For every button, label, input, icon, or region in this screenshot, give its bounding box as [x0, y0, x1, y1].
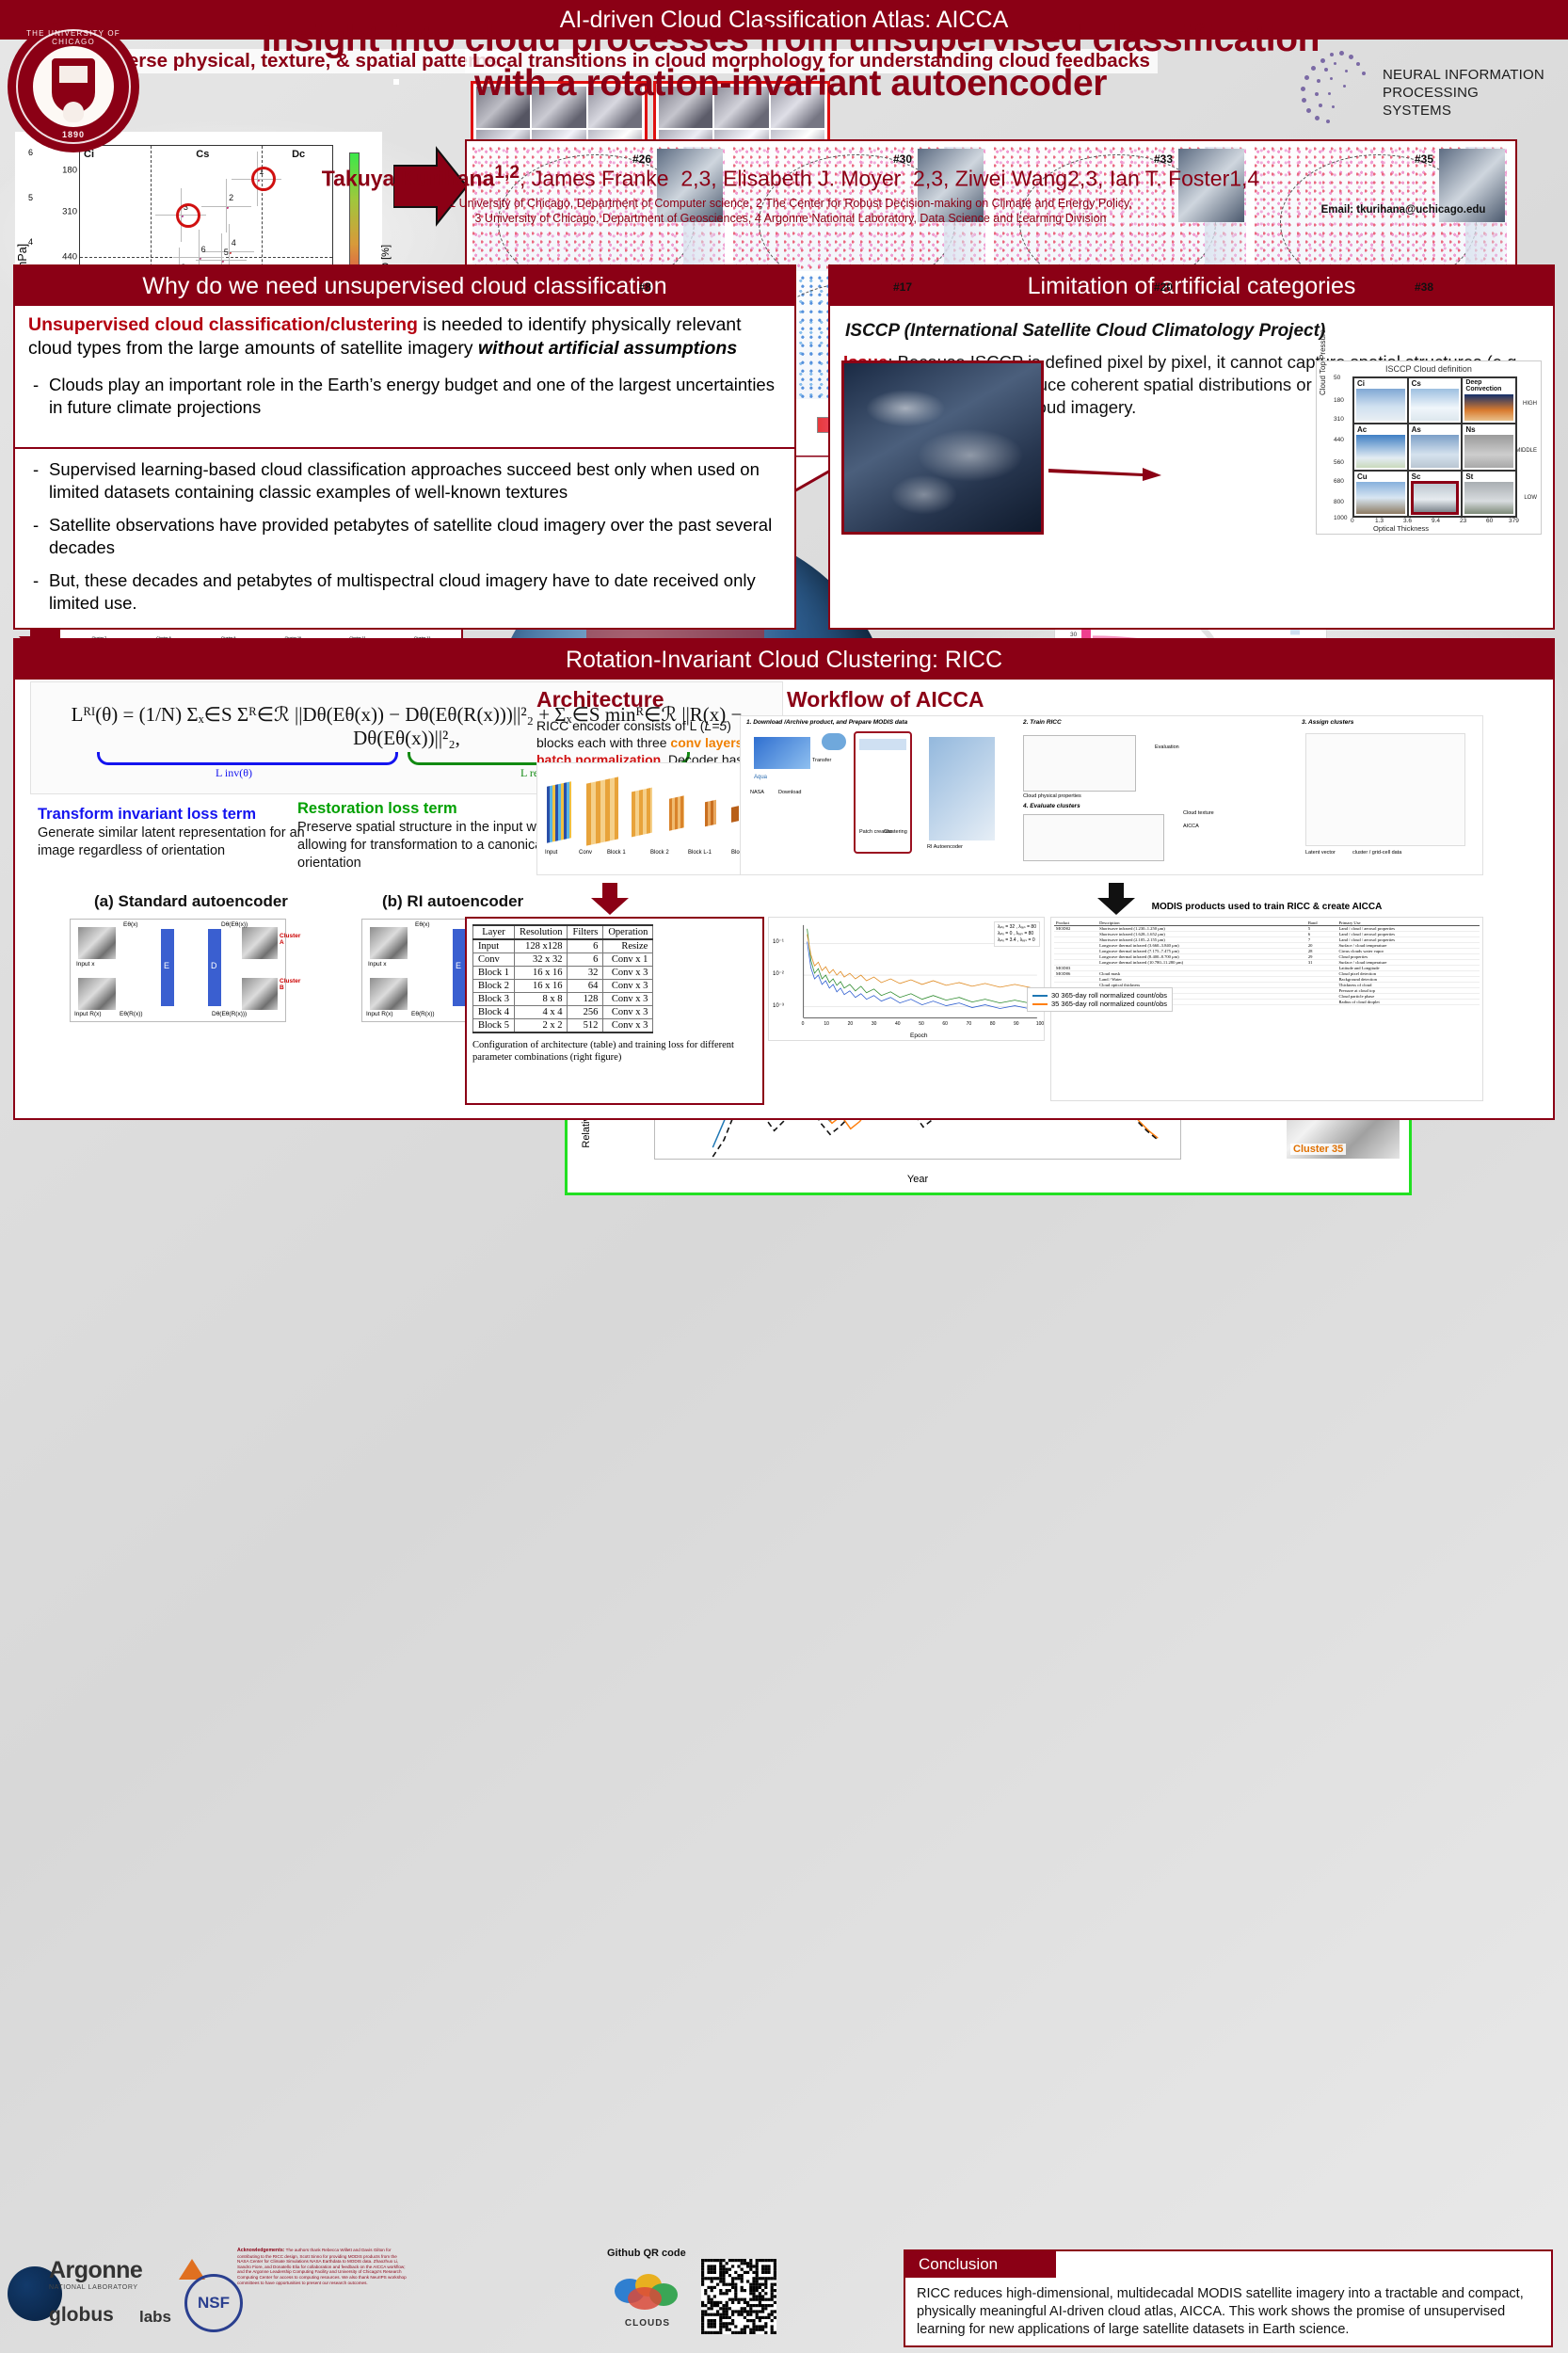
- arch-label-conv: Conv: [579, 850, 592, 856]
- loss-legend-0: λᵢₙᵥ = 32 , λᵣₑₛ = 80: [998, 924, 1036, 931]
- ocean-legend-label-0: 30 365-day roll normalized count/obs: [1051, 991, 1167, 1000]
- loss-legend-2: λᵢₙᵥ = 3.4 , λᵣₑₛ = 0: [998, 937, 1036, 944]
- author-lead: Takuya Kurihana: [322, 167, 495, 191]
- arch-cell-3-0: Block 2: [473, 980, 515, 993]
- affiliations: 1 University of Chicago, Department of C…: [169, 196, 1412, 226]
- isccp-ytick-7: 1000: [1334, 515, 1347, 521]
- arch-cell-2-3: Conv x 3: [603, 967, 653, 980]
- workflow-step-4: 3. Assign clusters: [1302, 719, 1353, 726]
- title-line-1: Insight into cloud processes from unsupe…: [141, 17, 1440, 61]
- brace-inv: [97, 752, 398, 765]
- loss-xtick-6: 60: [942, 1021, 948, 1027]
- workflow-riae-label: Cloud physical properties: [1023, 793, 1081, 799]
- seal-year: 1890: [8, 130, 139, 139]
- arch-cell-3-2: 64: [568, 980, 603, 993]
- workflow-step-3: 4. Evaluate clusters: [1023, 803, 1080, 809]
- seal-arc-text: THE UNIVERSITY OF CHICAGO: [8, 29, 139, 46]
- arch-text-1: RICC encoder consists of L (: [536, 718, 704, 733]
- isccp-cell-label-st: St: [1465, 472, 1473, 481]
- why-bullets-top: Clouds play an important role in the Ear…: [28, 374, 781, 419]
- workflow-title: Workflow of AICCA: [787, 687, 984, 712]
- isccp-xtick-1: 1.3: [1375, 518, 1384, 524]
- cluster-a-label: Cluster A: [280, 933, 300, 946]
- affiliation-line-2: 3 University of Chicago, Department of G…: [169, 211, 1412, 226]
- arch-th-3: Operation: [603, 925, 653, 939]
- loss-ytick-1: 10⁻²: [773, 970, 784, 977]
- brace-label-inv: L inv(θ): [216, 766, 252, 780]
- arch-cell-1-0: Conv: [473, 953, 515, 967]
- isccp-cell-cs: Cs: [1408, 377, 1463, 424]
- loss-ytick-0: 10⁻¹: [773, 938, 784, 945]
- workflow-diagram: 1. Download /Archive product, and Prepar…: [740, 715, 1483, 875]
- standard-autoencoder-diagram: E D Input x Input R(x) Eθ(x) Dθ(Eθ(x)) E…: [70, 919, 286, 1022]
- loss-xtick-3: 30: [872, 1021, 877, 1027]
- arch-th-1: Resolution: [514, 925, 568, 939]
- table-row: Conv32 x 326Conv x 1: [473, 953, 653, 967]
- isccp-xtick-3: 9.4: [1432, 518, 1440, 524]
- arch-cell-5-2: 256: [568, 1006, 603, 1019]
- transition-tile-label: #35: [1415, 152, 1433, 166]
- workflow-funcx-label: Aqua: [754, 775, 767, 780]
- arch-cell-0-3: Resize: [603, 939, 653, 953]
- transition-tile-label: #8: [639, 280, 651, 294]
- loss-xtick-4: 40: [895, 1021, 901, 1027]
- isccp-cell-cu: Cu: [1353, 471, 1408, 517]
- isccp-ytick-2: 310: [1334, 416, 1344, 423]
- isccp-side-middle: MIDDLE: [1515, 448, 1537, 454]
- loss-xtick-2: 20: [848, 1021, 854, 1027]
- architecture-table-card: Layer Resolution Filters Operation Input…: [465, 917, 764, 1105]
- isccp-xtick-6: 379: [1509, 518, 1519, 524]
- ack-title: Acknowledgements:: [237, 2248, 284, 2253]
- input-rx-label-b: Input R(x): [366, 1011, 393, 1017]
- isccp-cell-ns: Ns: [1462, 424, 1516, 470]
- isccp-sc-highlight: [1411, 481, 1460, 515]
- isccp-cell-ci: Ci: [1353, 377, 1408, 424]
- arch-label-block2: Block 2: [650, 850, 669, 856]
- loss-legend: λᵢₙᵥ = 32 , λᵣₑₛ = 80 λᵢₙᵥ = 0 , λᵣₑₛ = …: [994, 921, 1040, 947]
- arch-L-value: L=5: [704, 718, 727, 733]
- architecture-table-caption: Configuration of architecture (table) an…: [472, 1039, 757, 1064]
- workflow-patch-label: RI Autoencoder: [927, 844, 963, 850]
- ocean-legend-item-1: 35 365-day roll normalized count/obs: [1032, 1000, 1167, 1008]
- isccp-ytick-0: 50: [1334, 375, 1340, 381]
- scatter-point-label-5: 5: [224, 248, 229, 257]
- author-rest: , James Franke 2,3, Elisabeth J. Moyer 2…: [520, 167, 1259, 191]
- ricc-panel-title: Rotation-Invariant Cloud Clustering: RIC…: [15, 640, 1553, 680]
- transition-tile-label: #38: [1415, 280, 1433, 294]
- erx-label-b: Eθ(R(x)): [411, 1011, 435, 1017]
- isccp-cell-label-sc: Sc: [1412, 472, 1421, 481]
- isccp-xtick-2: 3.6: [1403, 518, 1412, 524]
- architecture-diagram: Input Conv Block 1 Block 2 Block L-1 Blo…: [536, 762, 772, 875]
- arch-cell-0-1: 128 x128: [514, 939, 568, 953]
- isccp-panel-title: Limitation of artificial categories: [830, 266, 1553, 306]
- isccp-panel: Limitation of artificial categories ISCC…: [828, 264, 1555, 630]
- down-arrow-icon-left: [589, 883, 631, 915]
- architecture-title: Architecture: [536, 687, 706, 712]
- loss-xtick-8: 80: [990, 1021, 996, 1027]
- modis-sample-image: [841, 360, 1044, 535]
- arch-cell-1-3: Conv x 1: [603, 953, 653, 967]
- loss-xticks: 0102030405060708090100: [803, 1021, 1040, 1029]
- loss-xtick-7: 70: [967, 1021, 972, 1027]
- arch-cell-6-2: 512: [568, 1019, 603, 1033]
- arch-cell-6-0: Block 5: [473, 1019, 515, 1033]
- loss-ytick-2: 10⁻³: [773, 1002, 784, 1009]
- neurips-wordmark: NEURAL INFORMATION PROCESSING SYSTEMS: [1383, 66, 1545, 120]
- table-row: Block 216 x 1664Conv x 3: [473, 980, 653, 993]
- ocean-chart-x-label: Year: [654, 1174, 1181, 1185]
- isccp-xtick-5: 60: [1486, 518, 1493, 524]
- caption-ri-autoencoder: (b) RI autoencoder: [382, 892, 523, 911]
- github-qr-code[interactable]: [701, 2259, 776, 2334]
- arch-cell-6-1: 2 x 2: [514, 1019, 568, 1033]
- isccp-subtitle: ISCCP (International Satellite Cloud Cli…: [845, 321, 1540, 342]
- isccp-ytick-5: 680: [1334, 478, 1344, 485]
- why-lead-paragraph: Unsupervised cloud classification/cluste…: [28, 313, 781, 360]
- affiliation-line-1: 1 University of Chicago, Department of C…: [169, 196, 1412, 211]
- isccp-ytick-4: 560: [1334, 459, 1344, 466]
- dex-label-a: Dθ(Eθ(x)): [221, 921, 248, 928]
- encoder-label-a: E: [164, 961, 169, 970]
- decoder-label-a: D: [211, 961, 217, 970]
- transition-tile-label: #20: [1154, 280, 1173, 294]
- isccp-cell-label-as: As: [1412, 425, 1421, 434]
- loss-xlabel: Epoch: [910, 1032, 927, 1039]
- cluster-b-label: Cluster B: [280, 978, 300, 991]
- transition-tile-label: #26: [632, 152, 651, 166]
- university-seal-logo: THE UNIVERSITY OF CHICAGO 1890: [8, 21, 139, 152]
- modis-products-note: MODIS products used to train RICC & crea…: [1050, 902, 1483, 912]
- isccp-y-axis-label: Cloud Top Pressure: [1319, 329, 1327, 395]
- why-panel-title: Why do we need unsupervised cloud classi…: [15, 266, 794, 306]
- isccp-xtick-0: 0: [1351, 518, 1354, 524]
- arch-cell-4-1: 8 x 8: [514, 993, 568, 1006]
- isccp-cell-label-ns: Ns: [1465, 425, 1475, 434]
- workflow-download-label: Download: [778, 790, 801, 795]
- arch-cell-2-2: 32: [568, 967, 603, 980]
- isccp-ytick-1: 180: [1334, 397, 1344, 404]
- page-title: Insight into cloud processes from unsupe…: [141, 17, 1440, 105]
- neurips-line-1: NEURAL INFORMATION: [1383, 66, 1545, 84]
- poster-footer: Argonne NATIONAL LABORATORY globus labs …: [0, 2246, 1568, 2353]
- ack-body: The authors thank Rebecca Willett and Da…: [237, 2248, 407, 2285]
- isccp-ytick-6: 800: [1334, 499, 1344, 505]
- architecture-table: Layer Resolution Filters Operation Input…: [472, 924, 653, 1033]
- why-bullet-3: But, these decades and petabytes of mult…: [28, 569, 781, 615]
- why-lead-highlight: Unsupervised cloud classification/cluste…: [28, 314, 418, 335]
- isccp-definition-figure: ISCCP Cloud definition Cloud Top Pressur…: [1316, 360, 1542, 535]
- contact-email: Email: tkurihana@uchicago.edu: [1267, 204, 1540, 216]
- conclusion-body: RICC reduces high-dimensional, multideca…: [905, 2280, 1551, 2345]
- isccp-cell-ac: Ac: [1353, 424, 1408, 470]
- conclusion-card: Conclusion RICC reduces high-dimensional…: [904, 2249, 1553, 2347]
- cluster-35-caption: Cluster 35: [1290, 1144, 1346, 1155]
- arch-label-input: Input: [545, 850, 557, 856]
- arch-label-blockLm1: Block L-1: [688, 850, 712, 856]
- arch-cell-2-1: 16 x 16: [514, 967, 568, 980]
- modis-cell-13-2: [1306, 1000, 1337, 1005]
- erx-label-a: Eθ(R(x)): [120, 1011, 143, 1017]
- isccp-side-high: HIGH: [1523, 401, 1537, 407]
- why-panel-lead-box: Unsupervised cloud classification/cluste…: [13, 306, 796, 449]
- nsf-logo: NSF: [184, 2274, 243, 2332]
- ricc-panel: Rotation-Invariant Cloud Clustering: RIC…: [13, 638, 1555, 1120]
- table-row: Block 116 x 1632Conv x 3: [473, 967, 653, 980]
- isccp-cell-sc: Sc: [1408, 471, 1463, 517]
- scatter-ytick-2: 440: [62, 252, 77, 263]
- why-lead-italic: without artificial assumptions: [478, 338, 737, 359]
- isccp-cell-label-dc: Deep Convection: [1465, 379, 1503, 392]
- derx-label-a: Dθ(Eθ(R(x))): [212, 1011, 247, 1017]
- isccp-cell-dc: Deep Convection: [1462, 377, 1516, 424]
- isccp-x-axis-label: Optical Thickness: [1373, 524, 1429, 533]
- transform-invariant-body: Generate similar latent representation f…: [38, 824, 311, 860]
- acknowledgements: Acknowledgements: The authors thank Rebe…: [237, 2248, 407, 2285]
- arch-cell-3-3: Conv x 3: [603, 980, 653, 993]
- training-loss-plot: 10⁻¹ 10⁻² 10⁻³ Epoch 0102030405060708090…: [768, 917, 1045, 1041]
- modis-cell-13-3: Radius of cloud droplet: [1336, 1000, 1480, 1005]
- loss-xtick-1: 10: [824, 1021, 829, 1027]
- arch-label-block1: Block 1: [607, 850, 626, 856]
- loss-legend-1: λᵢₙᵥ = 0 , λᵣₑₛ = 80: [998, 931, 1036, 937]
- qr-code-title: Github QR code: [607, 2248, 686, 2259]
- title-line-2: with a rotation-invariant autoencoder: [141, 61, 1440, 105]
- arch-cell-0-2: 6: [568, 939, 603, 953]
- encoder-label-b: E: [456, 961, 461, 970]
- loss-xtick-9: 90: [1014, 1021, 1019, 1027]
- why-bullet-0: Clouds play an important role in the Ear…: [28, 374, 781, 419]
- transform-invariant-title: Transform invariant loss term: [38, 806, 256, 824]
- neurips-logo: NEURAL INFORMATION PROCESSING SYSTEMS: [1296, 49, 1545, 124]
- clouds-label: CLOUDS: [607, 2318, 688, 2329]
- poster-header: THE UNIVERSITY OF CHICAGO 1890 Insight i…: [0, 0, 1568, 243]
- arch-cell-0-0: Input: [473, 939, 515, 953]
- ocean-legend-label-1: 35 365-day roll normalized count/obs: [1051, 1000, 1167, 1008]
- table-row: Block 44 x 4256Conv x 3: [473, 1006, 653, 1019]
- arch-cell-4-2: 128: [568, 993, 603, 1006]
- isccp-cloud-grid: Ci Cs Deep Convection Ac As Ns Cu Sc St: [1352, 376, 1517, 518]
- arch-cell-6-3: Conv x 3: [603, 1019, 653, 1033]
- isccp-cell-label-cs: Cs: [1412, 379, 1421, 388]
- workflow-block: Workflow of AICCA: [787, 687, 984, 712]
- workflow-step-2: 2. Train RICC: [1023, 719, 1062, 726]
- isccp-cell-as: As: [1408, 424, 1463, 470]
- arch-cell-5-1: 4 x 4: [514, 1006, 568, 1019]
- workflow-clustering-label: Evaluation: [1155, 744, 1179, 750]
- why-panel: Why do we need unsupervised cloud classi…: [13, 264, 796, 306]
- ex-label-b: Eθ(x): [415, 921, 430, 928]
- table-row: Input128 x1286Resize: [473, 939, 653, 953]
- arch-th-2: Filters: [568, 925, 603, 939]
- why-bullet-2: Satellite observations have provided pet…: [28, 514, 781, 559]
- pointer-arrow-icon: [1048, 466, 1161, 481]
- conclusion-title: Conclusion: [905, 2251, 1056, 2278]
- isccp-cell-label-ac: Ac: [1357, 425, 1367, 434]
- caption-standard-autoencoder: (a) Standard autoencoder: [94, 892, 288, 911]
- loss-xtick-0: 0: [802, 1021, 805, 1027]
- scatter-point-label-6: 6: [201, 245, 206, 254]
- arch-cell-4-0: Block 3: [473, 993, 515, 1006]
- transition-tile-label: #17: [893, 280, 912, 294]
- restoration-title: Restoration loss term: [297, 800, 457, 818]
- author-lead-sup: 1,2: [494, 163, 520, 183]
- isccp-figure-title: ISCCP Cloud definition: [1317, 361, 1541, 374]
- arch-cell-1-2: 6: [568, 953, 603, 967]
- loss-xtick-5: 50: [919, 1021, 924, 1027]
- arch-cell-5-3: Conv x 3: [603, 1006, 653, 1019]
- why-bullets-rest: Supervised learning-based cloud classifi…: [28, 458, 781, 615]
- why-bullet-1: Supervised learning-based cloud classifi…: [28, 458, 781, 504]
- arch-cell-5-0: Block 4: [473, 1006, 515, 1019]
- labs-wordmark: labs: [139, 2308, 171, 2327]
- input-rx-label-a: Input R(x): [74, 1011, 102, 1017]
- clouds-logo: CLOUDS: [607, 2266, 688, 2330]
- workflow-aqua-label: Clustering: [884, 829, 907, 835]
- isccp-cell-label-ci: Ci: [1357, 379, 1365, 388]
- isccp-cell-label-cu: Cu: [1357, 472, 1368, 481]
- ocean-legend-item-0: 30 365-day roll normalized count/obs: [1032, 991, 1167, 1000]
- isccp-side-low: LOW: [1524, 495, 1537, 501]
- arch-cell-1-1: 32 x 32: [514, 953, 568, 967]
- table-row: Block 52 x 2512Conv x 3: [473, 1019, 653, 1033]
- sankey-node-30: 30: [1070, 632, 1077, 638]
- isccp-xtick-4: 23: [1460, 518, 1466, 524]
- loss-xtick-10: 100: [1036, 1021, 1044, 1027]
- why-panel-bullets-box: Supervised learning-based cloud classifi…: [13, 449, 796, 630]
- workflow-latent-label: cluster / grid-cell data: [1352, 850, 1401, 856]
- workflow-aicca-label: Latent vector: [1305, 850, 1336, 856]
- transition-tile-label: #33: [1154, 152, 1173, 166]
- workflow-transfer-label: Transfer: [812, 758, 831, 763]
- transition-tile-label: #30: [893, 152, 912, 166]
- arch-cell-3-1: 16 x 16: [514, 980, 568, 993]
- nsf-wordmark: NSF: [184, 2274, 243, 2332]
- arch-conv-layers: conv layers: [670, 735, 743, 750]
- neurips-line-2: PROCESSING SYSTEMS: [1383, 84, 1545, 120]
- arch-cell-2-0: Block 1: [473, 967, 515, 980]
- arch-th-0: Layer: [473, 925, 515, 939]
- architecture-table-body: Input128 x1286ResizeConv32 x 326Conv x 1…: [473, 939, 653, 1032]
- workflow-eval-label: Cloud texture: [1183, 810, 1214, 816]
- workflow-nasa-label: NASA: [750, 790, 764, 795]
- ocean-chart-legend: 30 365-day roll normalized count/obs 35 …: [1027, 987, 1173, 1012]
- input-x-label-a: Input x: [76, 961, 95, 968]
- workflow-step-1: 1. Download /Archive product, and Prepar…: [746, 719, 907, 726]
- isccp-ytick-3: 440: [1334, 437, 1344, 443]
- table-row: Block 38 x 8128Conv x 3: [473, 993, 653, 1006]
- author-list: Takuya Kurihana1,2, James Franke 2,3, El…: [141, 160, 1440, 192]
- input-x-label-b: Input x: [368, 961, 387, 968]
- isccp-cell-st: St: [1462, 471, 1516, 517]
- neurips-dots-icon: [1296, 49, 1379, 124]
- workflow-texture-label: AICCA: [1183, 824, 1199, 829]
- arch-cell-4-3: Conv x 3: [603, 993, 653, 1006]
- ex-label-a: Eθ(x): [123, 921, 138, 928]
